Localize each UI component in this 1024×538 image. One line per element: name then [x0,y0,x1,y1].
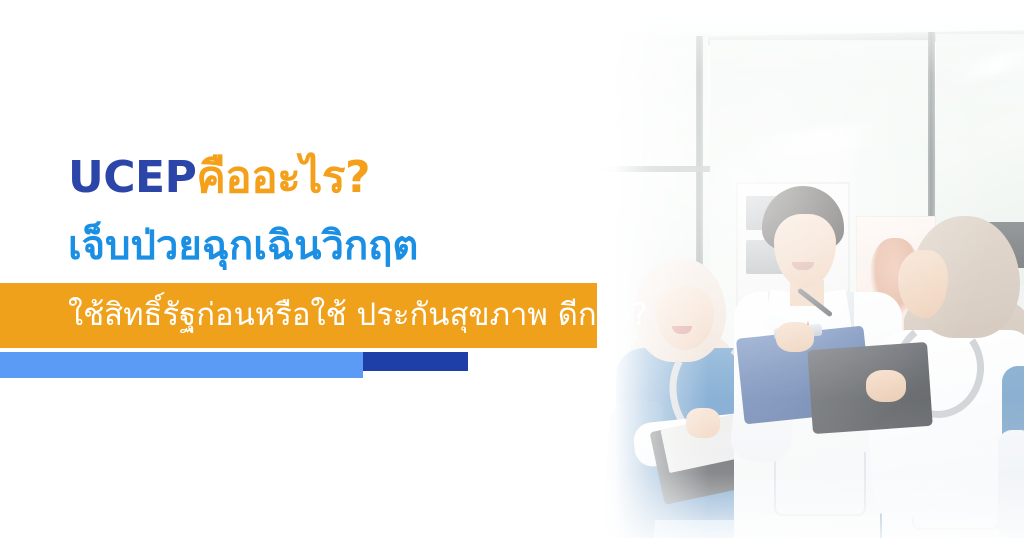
headline: UCEPคืออะไร? [68,156,370,200]
far-right-arm [998,430,1024,538]
hospital-team-photo [598,0,1024,538]
dark-blue-accent-bar [363,352,468,371]
nurse-arm [601,398,663,538]
orange-callout-text: ใช้สิทธิ์รัฐก่อนหรือใช้ ประกันสุขภาพ ดีก… [0,300,648,331]
female-doctor-hand [866,370,906,402]
orange-callout-band: ใช้สิทธิ์รัฐก่อนหรือใช้ ประกันสุขภาพ ดีก… [0,283,597,348]
ucep-promo-banner: UCEPคืออะไร? เจ็บป่วยฉุกเฉินวิกฤต ใช้สิท… [0,0,1024,538]
window-mullion-horizontal [598,166,710,172]
subheadline: เจ็บป่วยฉุกเฉินวิกฤต [68,226,418,266]
nurse-hand [686,408,720,438]
headline-question: คืออะไร? [196,152,370,203]
doctor-coat-pocket [774,452,866,516]
headline-brand: UCEP [68,152,196,203]
light-blue-accent-bar [0,352,363,378]
doctor-hand [776,322,814,352]
